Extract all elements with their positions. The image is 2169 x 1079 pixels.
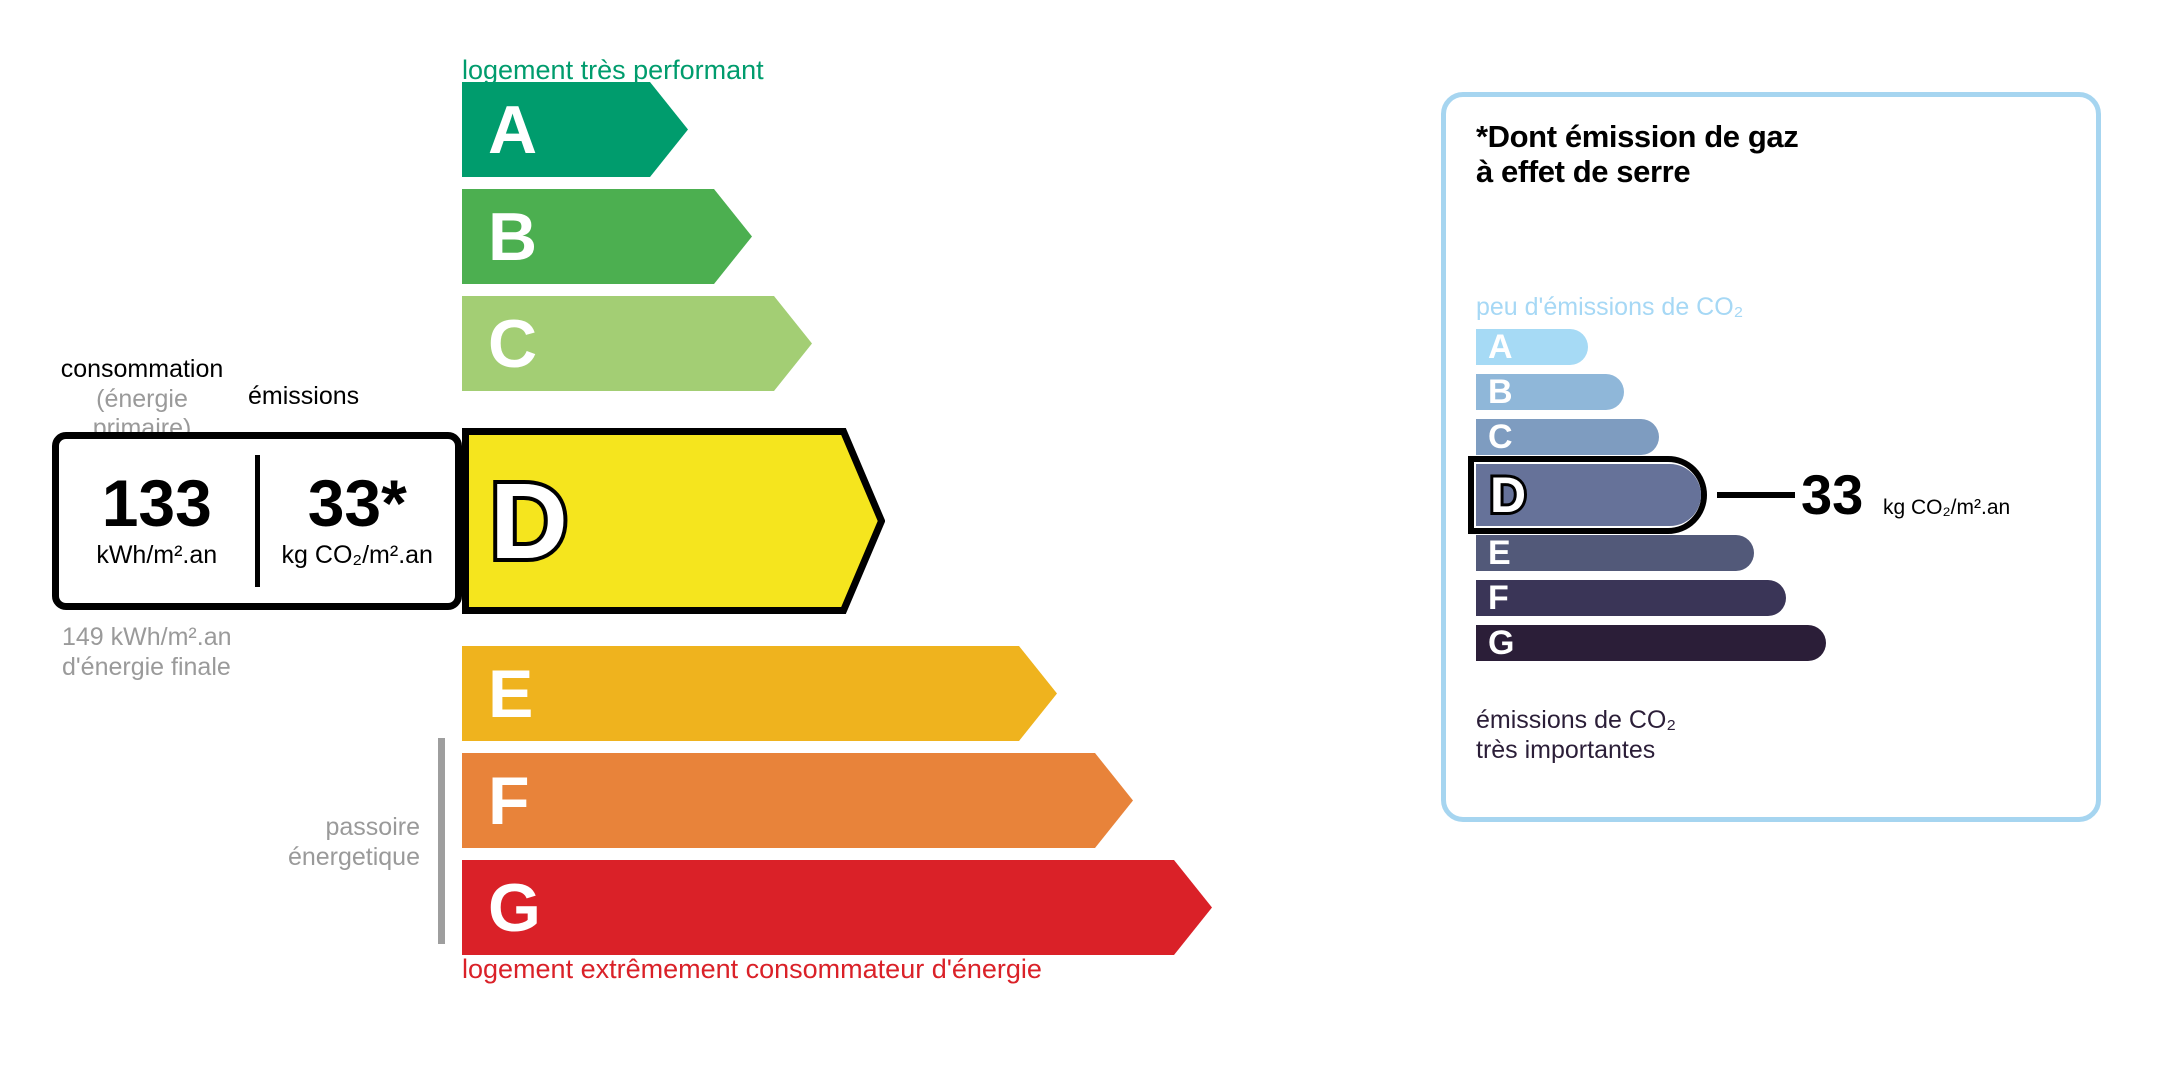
- consumption-value: 133: [102, 472, 212, 535]
- emission-cell: 33* kg CO₂/m².an: [260, 439, 456, 603]
- energy-bar-letter-g: G: [488, 874, 541, 942]
- co2-bottom-caption: émissions de CO₂ très importantes: [1476, 705, 1676, 765]
- energy-arrow-shape-f: F: [462, 753, 1133, 848]
- co2-bar-letter-g: G: [1488, 626, 1514, 660]
- co2-bar-fill-g: [1476, 625, 1826, 661]
- energy-bottom-caption: logement extrêmement consommateur d'éner…: [462, 954, 1042, 985]
- co2-bar-letter-c: C: [1488, 420, 1513, 454]
- value-box: 133 kWh/m².an 33* kg CO₂/m².an: [52, 432, 462, 610]
- energy-bar-f: F: [462, 753, 1133, 848]
- passoire-line2: énergetique: [190, 842, 420, 872]
- energy-arrow-shape-e: E: [462, 646, 1057, 741]
- energy-bar-a: A: [462, 82, 688, 177]
- final-energy-line2: d'énergie finale: [62, 652, 232, 682]
- energy-arrow-shape-c: C: [462, 296, 812, 391]
- co2-title-line1: *Dont émission de gaz: [1476, 119, 1798, 154]
- consumption-cell: 133 kWh/m².an: [59, 439, 255, 603]
- co2-bar-e: E: [1476, 535, 1754, 571]
- co2-panel: *Dont émission de gaz à effet de serre p…: [1441, 92, 2101, 822]
- emission-value: 33*: [308, 472, 407, 535]
- passoire-bracket: [438, 738, 445, 944]
- co2-value-unit: kg CO₂/m².an: [1883, 497, 2010, 518]
- co2-bar-f: F: [1476, 580, 1786, 616]
- passoire-line1: passoire: [190, 812, 420, 842]
- energy-bar-letter-b: B: [488, 203, 537, 271]
- consommation-label-main: consommation: [52, 355, 232, 385]
- passoire-label: passoire énergetique: [190, 812, 420, 872]
- energy-bar-c: C: [462, 296, 812, 391]
- energy-bar-letter-f: F: [488, 767, 530, 835]
- co2-panel-title: *Dont émission de gaz à effet de serre: [1476, 119, 1798, 190]
- co2-bar-letter-d: D: [1490, 470, 1526, 520]
- energy-bar-g: G: [462, 860, 1212, 955]
- co2-bottom-line2: très importantes: [1476, 735, 1676, 765]
- co2-bar-b: B: [1476, 374, 1624, 410]
- co2-leader-line: [1717, 492, 1795, 498]
- co2-bar-letter-e: E: [1488, 536, 1511, 570]
- co2-bar-letter-f: F: [1488, 581, 1509, 615]
- co2-bar-letter-a: A: [1488, 330, 1513, 364]
- co2-top-caption: peu d'émissions de CO₂: [1476, 293, 1743, 322]
- energy-bar-letter-a: A: [488, 96, 537, 164]
- final-energy-label: 149 kWh/m².an d'énergie finale: [62, 622, 232, 682]
- dpe-diagram: logement très performant A B C D E F G l…: [0, 0, 2169, 1079]
- co2-bar-fill-f: [1476, 580, 1786, 616]
- co2-bar-fill-e: [1476, 535, 1754, 571]
- energy-bar-letter-d: D: [490, 467, 568, 575]
- co2-bar-d: D: [1476, 464, 1701, 526]
- co2-value: 33: [1801, 467, 1863, 523]
- co2-bar-a: A: [1476, 329, 1588, 365]
- energy-bar-d: D: [462, 428, 885, 614]
- energy-arrow-shape-g: G: [462, 860, 1212, 955]
- energy-arrow-shape-a: A: [462, 82, 688, 177]
- energy-bar-e: E: [462, 646, 1057, 741]
- energy-performance-chart: logement très performant A B C D E F G l…: [0, 0, 1400, 1079]
- consumption-unit: kWh/m².an: [96, 541, 217, 570]
- consommation-label: consommation (énergie primaire): [52, 355, 232, 444]
- emissions-label: émissions: [248, 382, 398, 411]
- co2-bar-g: G: [1476, 625, 1826, 661]
- final-energy-line1: 149 kWh/m².an: [62, 622, 232, 652]
- energy-arrow-shape-b: B: [462, 189, 752, 284]
- co2-bottom-line1: émissions de CO₂: [1476, 705, 1676, 735]
- co2-title-line2: à effet de serre: [1476, 154, 1798, 189]
- emission-unit: kg CO₂/m².an: [282, 541, 433, 570]
- energy-bar-b: B: [462, 189, 752, 284]
- co2-bar-c: C: [1476, 419, 1659, 455]
- energy-bar-letter-e: E: [488, 660, 533, 728]
- energy-bar-letter-c: C: [488, 310, 537, 378]
- energy-arrow-shape-d: D: [462, 428, 885, 614]
- co2-bar-letter-b: B: [1488, 375, 1513, 409]
